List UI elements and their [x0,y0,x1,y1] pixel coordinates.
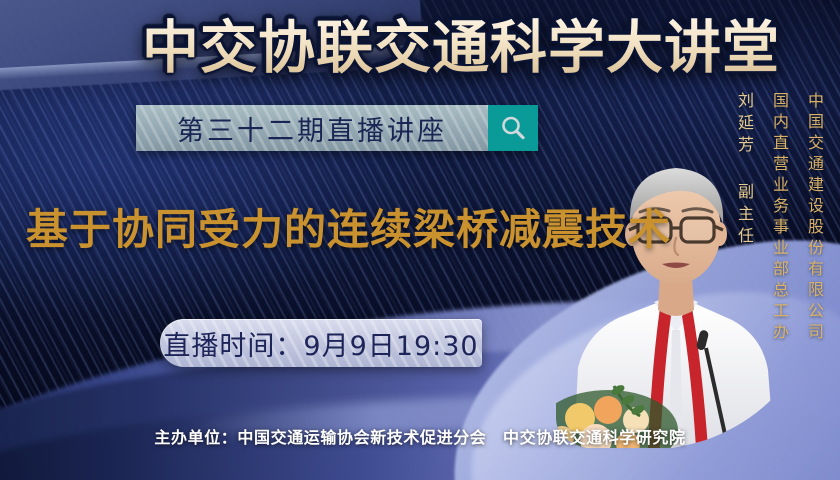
live-lecture-poster: 中交协联交通科学大讲堂 第三十二期直播讲座 基于协同受力的连续梁桥减震技术 直播… [0,0,840,480]
search-icon [498,113,528,143]
episode-label: 第三十二期直播讲座 [177,109,447,148]
search-button[interactable] [488,105,538,151]
lecture-topic: 基于协同受力的连续梁桥减震技术 [26,206,671,254]
speaker-department: 国内直营业务事业部总工办 [762,92,797,344]
speaker-name-title: 刘延芳 副主任 [727,92,762,249]
episode-banner-body: 第三十二期直播讲座 [136,105,488,151]
broadcast-time-badge: 直播时间：9月9日19:30 [160,319,482,367]
speaker-organization: 中国交通建设股份有限公司 [797,92,832,344]
organizers-footer: 主办单位：中国交通运输协会新技术促进分会 中交协联交通科学研究院 [0,424,840,448]
page-title: 中交协联交通科学大讲堂 [142,16,780,80]
speaker-credits: 刘延芳 副主任 国内直营业务事业部总工办 中国交通建设股份有限公司 [727,92,832,344]
episode-banner: 第三十二期直播讲座 [136,105,538,151]
broadcast-time-label: 直播时间：9月9日19:30 [163,324,478,363]
